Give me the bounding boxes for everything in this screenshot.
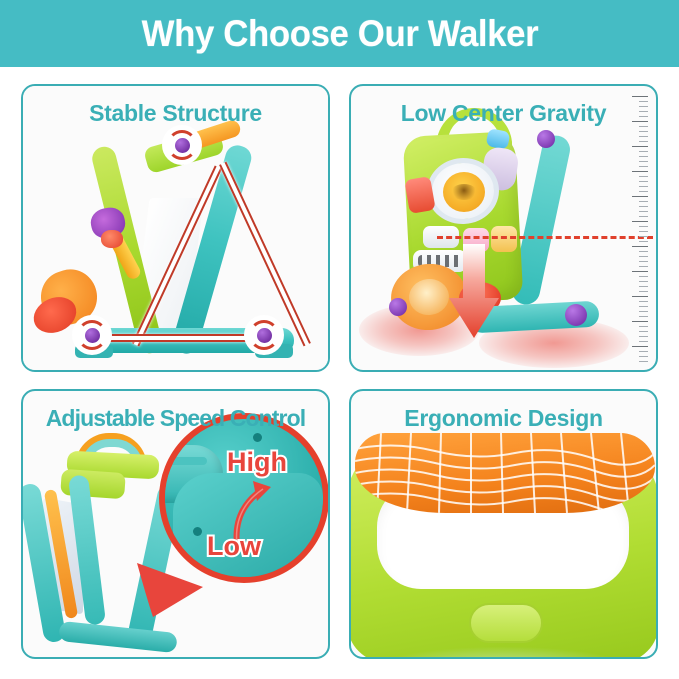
header-banner: Why Choose Our Walker bbox=[0, 0, 679, 67]
infographic-page: Why Choose Our Walker Stable Structure bbox=[0, 0, 679, 679]
screw-dot-top bbox=[253, 433, 262, 442]
handle-grip-orange bbox=[355, 433, 655, 513]
speed-lever-magnifier: High Low bbox=[159, 413, 329, 583]
grip-texture-lines bbox=[355, 433, 655, 513]
panel-adjustable-speed-control: Adjustable Speed Control bbox=[21, 389, 330, 659]
feature-panel-grid: Stable Structure bbox=[21, 84, 658, 659]
handle-center-button bbox=[469, 603, 543, 643]
panel-title-adjustable-speed-control: Adjustable Speed Control bbox=[23, 405, 328, 432]
handle-bottom-glow bbox=[381, 647, 625, 659]
down-arrow-icon bbox=[447, 244, 501, 340]
page-title: Why Choose Our Walker bbox=[141, 13, 538, 55]
panel-title-stable-structure: Stable Structure bbox=[23, 100, 328, 127]
measurement-ruler bbox=[624, 96, 650, 362]
wheel-purple-right bbox=[565, 304, 587, 326]
wheel-purple-left bbox=[389, 298, 407, 316]
center-of-gravity-line bbox=[437, 236, 653, 239]
lion-face-icon bbox=[443, 172, 485, 212]
walker-foot-bar bbox=[58, 621, 177, 653]
panel-low-center-gravity: Low Center Gravity bbox=[349, 84, 658, 372]
screw-dot-bottom bbox=[193, 527, 202, 536]
panel-title-low-center-gravity: Low Center Gravity bbox=[351, 100, 656, 127]
panel-stable-structure: Stable Structure bbox=[21, 84, 330, 372]
speed-label-low: Low bbox=[207, 531, 261, 562]
joint-marker-right-icon bbox=[247, 318, 281, 352]
walker-red-toy bbox=[101, 230, 123, 248]
joint-marker-top-icon bbox=[165, 128, 199, 162]
speed-label-high: High bbox=[227, 447, 287, 478]
panel-title-ergonomic-design: Ergonomic Design bbox=[351, 405, 656, 432]
knob-purple-top bbox=[537, 130, 555, 148]
stable-structure-illustration bbox=[23, 86, 328, 370]
panel-ergonomic-design: Ergonomic Design bbox=[349, 389, 658, 659]
low-center-gravity-illustration bbox=[351, 86, 656, 370]
joint-marker-left-icon bbox=[75, 318, 109, 352]
activity-phone bbox=[404, 176, 436, 214]
